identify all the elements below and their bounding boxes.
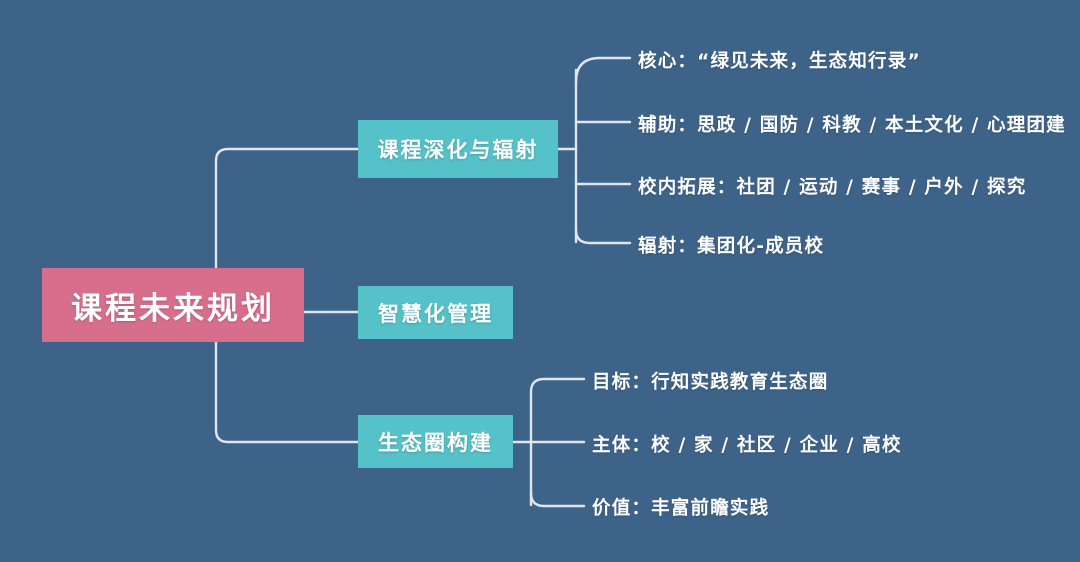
leaf-node-radiation: 辐射：集团化-成员校: [638, 232, 824, 258]
leaf-node-auxiliary: 辅助：思政 / 国防 / 科教 / 本土文化 / 心理团建: [638, 111, 1066, 137]
leaf-node-core: 核心：“绿见未来，生态知行录”: [638, 47, 921, 73]
branch-node-label: 课程深化与辐射: [378, 134, 539, 164]
mindmap-canvas: 课程未来规划 课程深化与辐射 智慧化管理 生态圈构建 核心：“绿见未来，生态知行…: [0, 0, 1080, 562]
connector-branch-1-leaf-1: [576, 58, 630, 82]
leaf-node-goal: 目标：行知实践教育生态圈: [592, 368, 828, 394]
leaf-node-participants: 主体：校 / 家 / 社区 / 企业 / 高校: [592, 431, 902, 457]
branch-node-smart-management[interactable]: 智慧化管理: [358, 286, 513, 339]
connector-root-to-branch-1: [216, 149, 358, 268]
branch-node-label: 智慧化管理: [378, 298, 493, 328]
branch-node-label: 生态圈构建: [378, 427, 493, 457]
branch-node-course-deepening[interactable]: 课程深化与辐射: [358, 120, 558, 178]
leaf-node-campus-extension: 校内拓展：社团 / 运动 / 赛事 / 户外 / 探究: [638, 173, 1026, 199]
root-node[interactable]: 课程未来规划: [42, 268, 304, 342]
connector-branch-1-leaf-4: [576, 230, 630, 243]
root-node-label: 课程未来规划: [71, 283, 275, 328]
branch-node-ecosystem-building[interactable]: 生态圈构建: [358, 415, 513, 468]
connector-branch-3-leaf-3: [531, 493, 584, 506]
connector-branch-3-leaf-1: [531, 379, 584, 392]
connector-root-to-branch-3: [216, 342, 358, 442]
leaf-node-value: 价值：丰富前瞻实践: [592, 494, 769, 520]
